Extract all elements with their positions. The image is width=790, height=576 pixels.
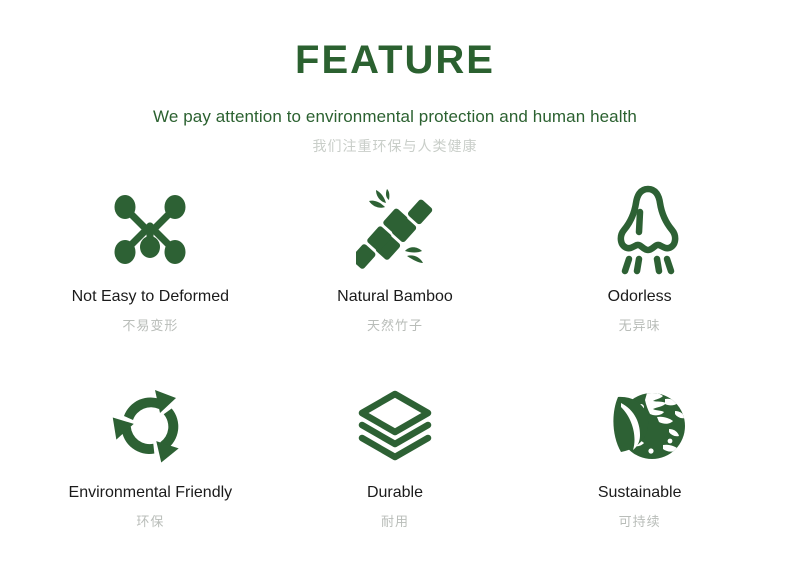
feature-label-en: Not Easy to Deformed [72, 286, 229, 308]
feature-label-en: Environmental Friendly [69, 482, 233, 504]
feature-grid: Not Easy to Deformed 不易变形 [0, 180, 790, 572]
feature-label-cn: 耐用 [381, 512, 409, 532]
feature-label-cn: 无异味 [619, 316, 661, 336]
globe-leaf-icon [607, 376, 689, 476]
page-title: FEATURE [0, 36, 790, 84]
layers-icon [355, 376, 435, 476]
molecule-nodes-icon [111, 180, 189, 280]
feature-item: Not Easy to Deformed 不易变形 [28, 180, 273, 376]
feature-label-cn: 不易变形 [122, 316, 178, 336]
subtitle-chinese: 我们注重环保与人类健康 [0, 136, 790, 156]
section-header: FEATURE We pay attention to environmenta… [0, 0, 790, 156]
feature-item: Sustainable 可持续 [517, 376, 762, 572]
feature-label-en: Natural Bamboo [337, 286, 453, 308]
feature-section: FEATURE We pay attention to environmenta… [0, 0, 790, 576]
feature-label-en: Durable [367, 482, 423, 504]
feature-label-cn: 可持续 [619, 512, 661, 532]
nose-icon [612, 180, 684, 280]
feature-label-cn: 天然竹子 [367, 316, 423, 336]
feature-item: Environmental Friendly 环保 [28, 376, 273, 572]
recycle-icon [110, 376, 190, 476]
feature-item: Odorless 无异味 [517, 180, 762, 376]
feature-item: Durable 耐用 [273, 376, 518, 572]
bamboo-icon [356, 180, 434, 280]
feature-item: Natural Bamboo 天然竹子 [273, 180, 518, 376]
feature-label-cn: 环保 [136, 512, 164, 532]
feature-label-en: Sustainable [598, 482, 682, 504]
subtitle-english: We pay attention to environmental protec… [0, 106, 790, 128]
feature-label-en: Odorless [608, 286, 672, 308]
